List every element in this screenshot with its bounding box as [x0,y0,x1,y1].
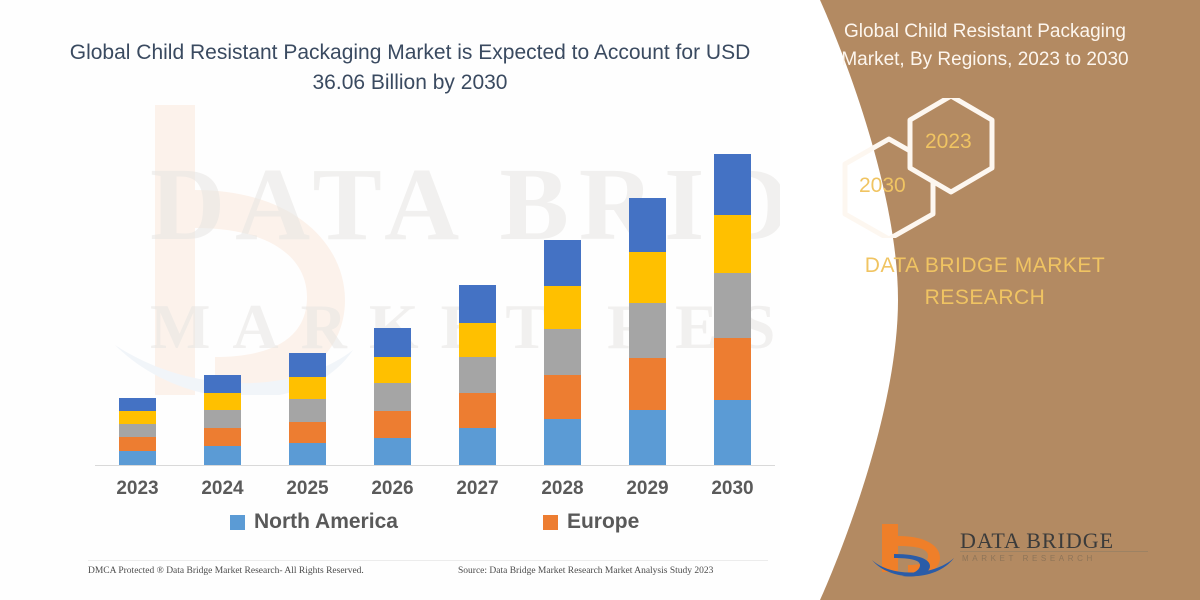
bar-slot-2025 [265,130,350,465]
bar-segment [119,398,156,411]
legend-swatch-europe [543,515,558,530]
bar-segment [544,375,581,419]
footer-source-text: Source: Data Bridge Market Research Mark… [458,566,788,576]
bar-segment [459,393,496,428]
bar-segment [374,383,411,411]
x-axis-line [95,465,775,466]
bar-segment [289,422,326,443]
bar-segment [204,375,241,393]
stacked-bar[interactable] [544,240,581,465]
bar-segment [714,400,751,465]
bar-slot-2030 [690,130,775,465]
bar-segment [119,437,156,451]
legend-item-north-america[interactable]: North America [230,510,398,534]
stacked-bar[interactable] [459,285,496,465]
x-axis-label: 2029 [605,478,690,500]
bar-segment [714,273,751,338]
footer-dmca-text: DMCA Protected ® Data Bridge Market Rese… [88,566,458,576]
legend-item-europe[interactable]: Europe [543,510,639,534]
hexagon-label-2030: 2030 [859,174,906,198]
brand-name-line2: RESEARCH [810,282,1160,314]
plot-area [95,130,775,466]
bar-segment [374,411,411,438]
bar-segment [629,252,666,303]
bar-segment [374,328,411,357]
bar-segment [204,428,241,446]
bar-slot-2027 [435,130,520,465]
x-axis-labels: 20232024202520262027202820292030 [95,478,775,500]
bar-segment [374,438,411,465]
hexagon-label-2023: 2023 [925,130,972,154]
stacked-bar[interactable] [119,398,156,465]
bar-slot-2026 [350,130,435,465]
bar-segment [459,428,496,465]
x-axis-label: 2026 [350,478,435,500]
bar-segment [629,410,666,465]
bar-segment [289,399,326,422]
brand-panel: Global Child Resistant Packaging Market,… [780,0,1200,600]
bar-segment [714,154,751,215]
bar-segment [714,215,751,273]
bar-group [95,130,775,465]
footer: DMCA Protected ® Data Bridge Market Rese… [88,566,788,576]
bar-segment [289,443,326,465]
footer-divider [88,560,768,561]
bar-segment [629,198,666,252]
bar-slot-2029 [605,130,690,465]
bar-segment [714,338,751,400]
bar-segment [374,357,411,383]
bar-segment [204,410,241,428]
bar-segment [289,377,326,399]
chart-title: Global Child Resistant Packaging Market … [60,38,760,98]
bar-segment [544,286,581,329]
bar-segment [544,329,581,375]
hexagon-badges: 2030 2023 [815,98,1165,238]
stacked-bar[interactable] [629,198,666,465]
stacked-bar[interactable] [204,375,241,465]
company-logo-tagline: MARKET RESEARCH [962,554,1096,563]
bar-slot-2023 [95,130,180,465]
stacked-bar[interactable] [714,154,751,465]
bar-segment [544,419,581,465]
infographic-page: DATA BRIDGE MARKET RESEARCH Global Child… [0,0,1200,600]
brand-name-line1: DATA BRIDGE MARKET [810,250,1160,282]
brand-panel-title: Global Child Resistant Packaging Market,… [810,18,1160,73]
bar-segment [204,393,241,410]
x-axis-label: 2027 [435,478,520,500]
chart-panel: DATA BRIDGE MARKET RESEARCH Global Child… [0,0,880,600]
company-logo-divider [960,551,1148,552]
legend-label-europe: Europe [567,510,639,534]
bar-segment [289,353,326,377]
bar-slot-2028 [520,130,605,465]
legend-label-north-america: North America [254,510,398,534]
x-axis-label: 2028 [520,478,605,500]
bar-segment [459,285,496,323]
bar-slot-2024 [180,130,265,465]
x-axis-label: 2024 [180,478,265,500]
x-axis-label: 2025 [265,478,350,500]
x-axis-label: 2023 [95,478,180,500]
bar-segment [204,446,241,465]
chart-legend: North America Europe [95,510,775,534]
legend-swatch-north-america [230,515,245,530]
stacked-bar[interactable] [374,328,411,465]
company-logo: DATA BRIDGE MARKET RESEARCH [868,520,1168,582]
bar-segment [459,357,496,393]
x-axis-label: 2030 [690,478,775,500]
stacked-bar[interactable] [289,353,326,465]
bar-segment [544,240,581,286]
brand-name-text: DATA BRIDGE MARKET RESEARCH [810,250,1160,313]
bar-segment [629,358,666,410]
bar-segment [119,451,156,465]
bar-segment [629,303,666,358]
bar-segment [459,323,496,357]
company-logo-mark-icon [868,520,958,582]
bar-segment [119,424,156,437]
bar-segment [119,411,156,424]
